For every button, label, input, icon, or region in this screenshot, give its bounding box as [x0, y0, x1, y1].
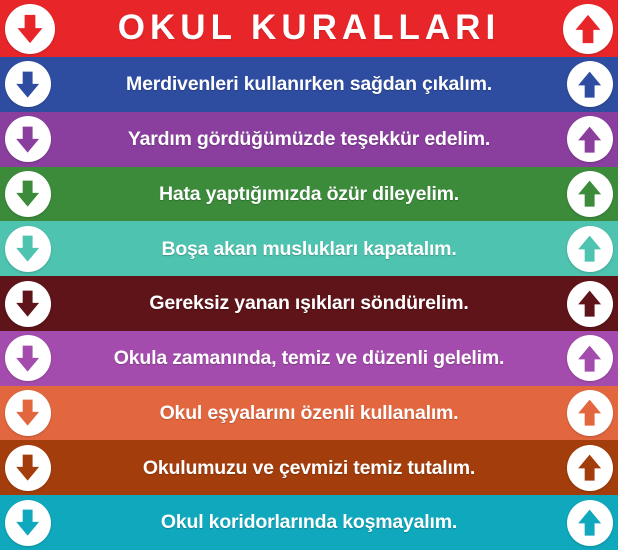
arrow-up-circle-icon [563, 4, 613, 54]
rule-text: Gereksiz yanan ışıkları söndürelim. [91, 293, 526, 313]
rule-text: Hata yaptığımızda özür dileyelim. [101, 184, 517, 204]
arrow-down-circle-icon [5, 445, 51, 491]
rule-band-8: Okulumuzu ve çevmizi temiz tutalım. [0, 440, 618, 495]
rule-band-1: Merdivenleri kullanırken sağdan çıkalım. [0, 57, 618, 112]
rule-band-2: Yardım gördüğümüzde teşekkür edelim. [0, 112, 618, 167]
arrow-down-circle-icon [5, 500, 51, 546]
arrow-up-circle-icon [567, 500, 613, 546]
school-rules-poster: OKUL KURALLARI Merdivenleri kullanırken … [0, 0, 618, 550]
rule-text: Boşa akan muslukları kapatalım. [103, 239, 514, 259]
arrow-up-circle-icon [567, 226, 613, 272]
arrow-up-circle-icon [567, 116, 613, 162]
arrow-up-circle-icon [567, 445, 613, 491]
rule-band-6: Okula zamanında, temiz ve düzenli geleli… [0, 331, 618, 386]
arrow-down-circle-icon [5, 281, 51, 327]
arrow-up-circle-icon [567, 281, 613, 327]
arrow-down-circle-icon [5, 61, 51, 107]
arrow-down-circle-icon [5, 116, 51, 162]
arrow-down-circle-icon [5, 226, 51, 272]
rule-band-9: Okul koridorlarında koşmayalım. [0, 495, 618, 550]
page-title: OKUL KURALLARI [60, 10, 558, 47]
arrow-up-circle-icon [567, 61, 613, 107]
rule-text: Yardım gördüğümüzde teşekkür edelim. [70, 129, 548, 149]
rule-band-7: Okul eşyalarını özenli kullanalım. [0, 386, 618, 441]
rule-band-4: Boşa akan muslukları kapatalım. [0, 221, 618, 276]
rule-text: Okula zamanında, temiz ve düzenli geleli… [56, 348, 562, 368]
rule-text: Okul koridorlarında koşmayalım. [103, 512, 515, 532]
arrow-down-circle-icon [5, 335, 51, 381]
poster-header-band: OKUL KURALLARI [0, 0, 618, 57]
rule-band-5: Gereksiz yanan ışıkları söndürelim. [0, 276, 618, 331]
rule-band-3: Hata yaptığımızda özür dileyelim. [0, 167, 618, 222]
rule-text: Okulumuzu ve çevmizi temiz tutalım. [85, 458, 533, 478]
arrow-down-circle-icon [5, 4, 55, 54]
arrow-up-circle-icon [567, 390, 613, 436]
rule-text: Merdivenleri kullanırken sağdan çıkalım. [68, 74, 550, 94]
arrow-up-circle-icon [567, 171, 613, 217]
arrow-up-circle-icon [567, 335, 613, 381]
rule-text: Okul eşyalarını özenli kullanalım. [102, 403, 517, 423]
arrow-down-circle-icon [5, 171, 51, 217]
arrow-down-circle-icon [5, 390, 51, 436]
